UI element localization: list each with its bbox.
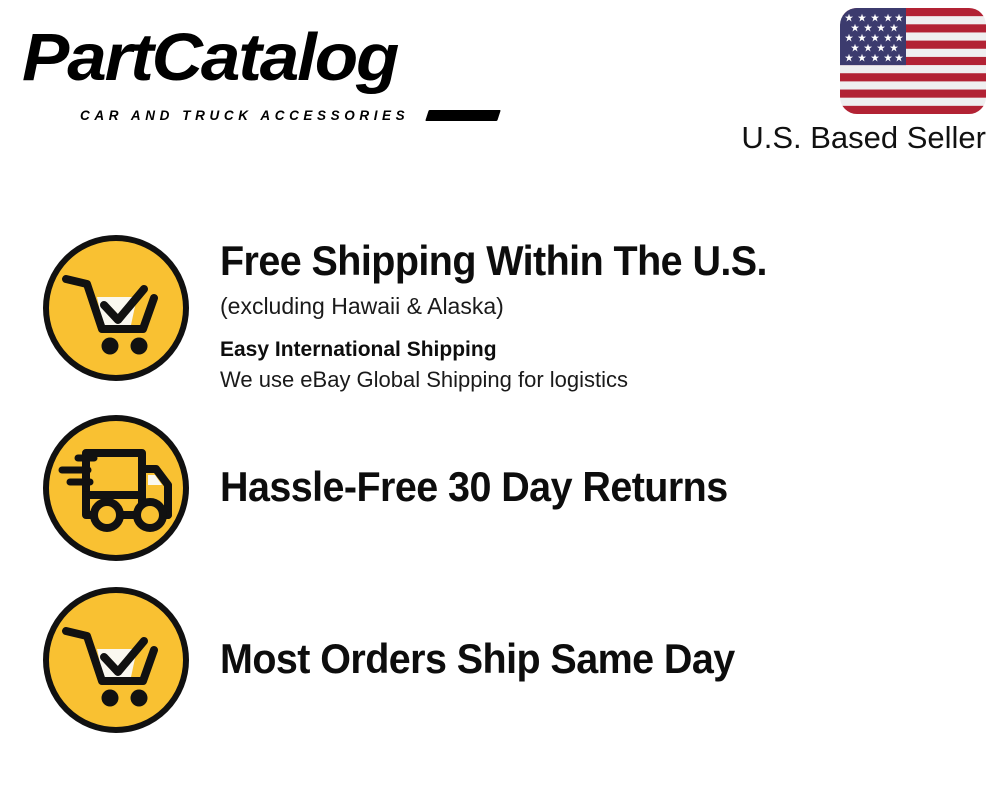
cart-check-icon (40, 584, 192, 736)
feature-text-free-shipping: Free Shipping Within The U.S. (excluding… (192, 232, 980, 395)
seller-badge-label: U.S. Based Seller (726, 120, 986, 156)
brand-logo[interactable]: PartCatalog CAR AND TRUCK ACCESSORIES (22, 22, 492, 117)
feature-row-same-day: Most Orders Ship Same Day (40, 584, 980, 736)
us-flag-icon (840, 8, 986, 114)
brand-swash-decoration (425, 110, 501, 121)
brand-wordmark: PartCatalog (22, 22, 397, 94)
feature-subhead-note: We use eBay Global Shipping for logistic… (220, 365, 980, 395)
feature-row-returns: Hassle-Free 30 Day Returns (40, 412, 980, 564)
feature-subhead: Easy International Shipping (220, 336, 980, 364)
cart-check-icon (40, 232, 192, 384)
feature-headline: Most Orders Ship Same Day (220, 634, 934, 684)
feature-text-same-day: Most Orders Ship Same Day (192, 584, 980, 684)
feature-row-free-shipping: Free Shipping Within The U.S. (excluding… (40, 232, 980, 395)
page-header: PartCatalog CAR AND TRUCK ACCESSORIES (0, 0, 1000, 175)
feature-text-returns: Hassle-Free 30 Day Returns (192, 412, 980, 512)
delivery-truck-icon (40, 412, 192, 564)
feature-subline: (excluding Hawaii & Alaska) (220, 290, 980, 322)
feature-headline: Hassle-Free 30 Day Returns (220, 462, 934, 512)
brand-tagline: CAR AND TRUCK ACCESSORIES (80, 108, 409, 124)
us-based-seller-badge: U.S. Based Seller (726, 8, 986, 156)
feature-headline: Free Shipping Within The U.S. (220, 236, 934, 286)
